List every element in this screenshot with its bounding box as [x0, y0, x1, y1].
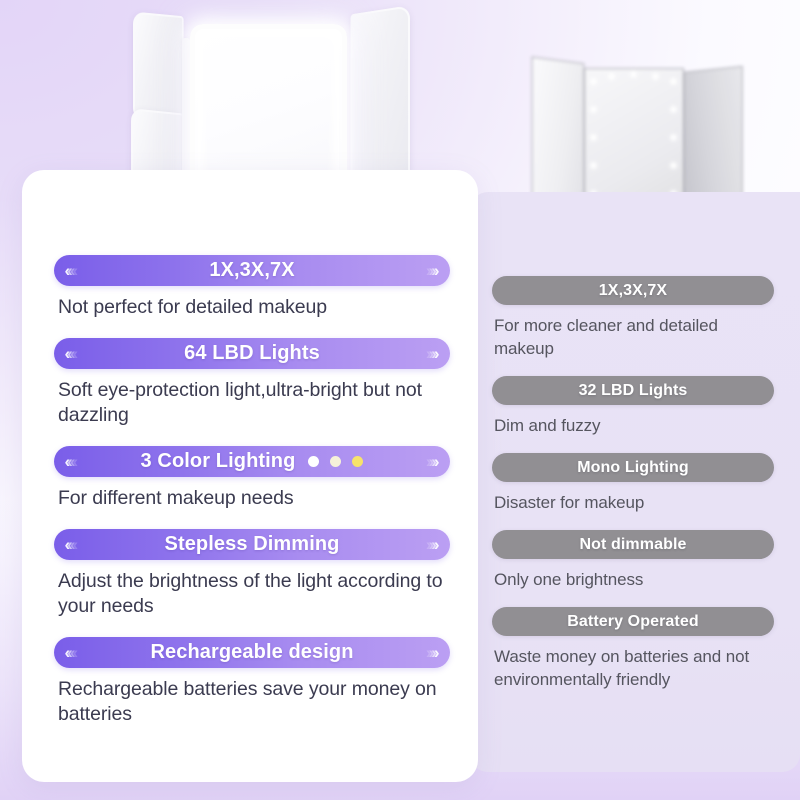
feature-list-featured: ‹‹‹‹ 1X,3X,7X ›››› Not perfect for detai… [54, 255, 450, 745]
feature-description: Adjust the brightness of the light accor… [58, 569, 450, 619]
feature-description: Rechargeable batteries save your money o… [58, 677, 450, 727]
chevron-left-icon: ‹‹‹‹ [66, 338, 77, 369]
feature-row: 1X,3X,7X For more cleaner and detailed m… [492, 276, 774, 360]
competitor-pill-label: Not dimmable [580, 536, 687, 554]
led-dot-icon [591, 135, 596, 140]
chevron-left-icon: ‹‹‹‹ [66, 446, 77, 477]
color-temperature-dots [308, 456, 363, 467]
chevron-right-icon: ›››› [427, 338, 438, 369]
chevron-right-icon: ›››› [427, 637, 438, 668]
feature-row: Not dimmable Only one brightness [492, 530, 774, 591]
competitor-pill-led-count[interactable]: 32 LBD Lights [492, 376, 774, 405]
competitor-pill-magnification[interactable]: 1X,3X,7X [492, 276, 774, 305]
competitor-pill-power[interactable]: Battery Operated [492, 607, 774, 636]
competitor-description: Disaster for makeup [494, 491, 762, 514]
feature-row: ‹‹‹‹ Stepless Dimming ›››› Adjust the br… [54, 529, 450, 619]
feature-list-competitor: 1X,3X,7X For more cleaner and detailed m… [492, 276, 774, 707]
chevron-right-icon: ›››› [427, 255, 438, 286]
color-dot-cream-icon [330, 456, 341, 467]
led-dot-icon [591, 163, 596, 168]
feature-row: Mono Lighting Disaster for makeup [492, 453, 774, 514]
feature-row: ‹‹‹‹ 3 Color Lighting ›››› For different… [54, 446, 450, 511]
feature-pill-label: 1X,3X,7X [209, 259, 294, 282]
led-dot-icon [653, 74, 658, 79]
feature-row: Battery Operated Waste money on batterie… [492, 607, 774, 691]
competitor-pill-dimming[interactable]: Not dimmable [492, 530, 774, 559]
chevron-left-icon: ‹‹‹‹ [66, 637, 77, 668]
feature-pill-label: Rechargeable design [150, 641, 353, 664]
led-dot-icon [671, 135, 676, 140]
feature-pill-label: Stepless Dimming [165, 533, 340, 556]
feature-pill-color-lighting[interactable]: ‹‹‹‹ 3 Color Lighting ›››› [54, 446, 450, 477]
left-wing-upper-panel [133, 11, 184, 120]
chevron-left-icon: ‹‹‹‹ [66, 255, 77, 286]
feature-pill-label: 64 LBD Lights [184, 342, 320, 365]
competitor-pill-label: 1X,3X,7X [599, 282, 667, 300]
chevron-right-icon: ›››› [427, 446, 438, 477]
feature-row: ‹‹‹‹ 1X,3X,7X ›››› Not perfect for detai… [54, 255, 450, 320]
competitor-description: For more cleaner and detailed makeup [494, 314, 762, 360]
feature-description: Soft eye-protection light,ultra-bright b… [58, 378, 450, 428]
competitor-description: Waste money on batteries and not environ… [494, 645, 762, 691]
color-dot-yellow-icon [352, 456, 363, 467]
led-dot-icon [671, 79, 676, 84]
color-dot-white-icon [308, 456, 319, 467]
chevron-left-icon: ‹‹‹‹ [66, 529, 77, 560]
feature-pill-led-count[interactable]: ‹‹‹‹ 64 LBD Lights ›››› [54, 338, 450, 369]
feature-pill-magnification[interactable]: ‹‹‹‹ 1X,3X,7X ›››› [54, 255, 450, 286]
feature-description: Not perfect for detailed makeup [58, 295, 450, 320]
feature-pill-rechargeable[interactable]: ‹‹‹‹ Rechargeable design ›››› [54, 637, 450, 668]
competitor-pill-label: Mono Lighting [577, 459, 688, 477]
feature-row: 32 LBD Lights Dim and fuzzy [492, 376, 774, 437]
competitor-description: Only one brightness [494, 568, 762, 591]
feature-pill-label: 3 Color Lighting [141, 450, 296, 473]
led-dot-icon [591, 79, 596, 84]
feature-pill-dimming[interactable]: ‹‹‹‹ Stepless Dimming ›››› [54, 529, 450, 560]
feature-row: ‹‹‹‹ Rechargeable design ›››› Rechargeab… [54, 637, 450, 727]
led-dot-icon [609, 74, 614, 79]
competitor-pill-label: 32 LBD Lights [579, 382, 688, 400]
competitor-pill-label: Battery Operated [567, 613, 698, 631]
led-dot-icon [671, 107, 676, 112]
competitor-pill-lighting[interactable]: Mono Lighting [492, 453, 774, 482]
feature-row: ‹‹‹‹ 64 LBD Lights ›››› Soft eye-protect… [54, 338, 450, 428]
led-dot-icon [631, 72, 636, 77]
led-dot-icon [671, 163, 676, 168]
led-dot-icon [591, 107, 596, 112]
chevron-right-icon: ›››› [427, 529, 438, 560]
comparison-infographic: ‹‹‹‹ 1X,3X,7X ›››› Not perfect for detai… [0, 0, 800, 800]
feature-description: For different makeup needs [58, 486, 450, 511]
competitor-description: Dim and fuzzy [494, 414, 762, 437]
